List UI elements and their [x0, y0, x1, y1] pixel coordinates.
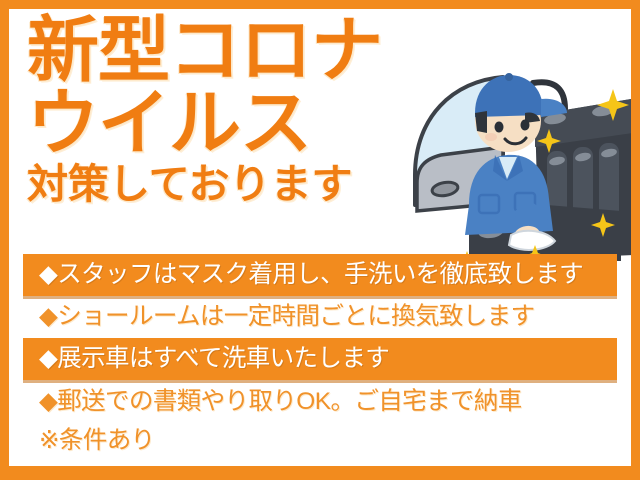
countermeasure-list: ◆スタッフはマスク着用し、手洗いを徹底致します ◆ショールームは一定時間ごとに換…	[23, 254, 617, 464]
headline-line-1: 新型コロナ	[27, 17, 447, 86]
diamond-bullet-icon: ◆	[39, 388, 57, 415]
bullet-note: ※条件あり	[39, 421, 522, 461]
bullet-line: ◆スタッフはマスク着用し、手洗いを徹底致します	[39, 256, 583, 294]
bullet-label: 展示車はすべて洗車いたします	[57, 345, 389, 372]
headline-line-2: ウイルス	[27, 90, 447, 159]
diamond-bullet-icon: ◆	[39, 261, 57, 288]
diamond-bullet-icon: ◆	[39, 303, 57, 330]
bullet-line-group: ◆郵送での書類やり取りOK。ご自宅まで納車 ※条件あり	[39, 383, 522, 461]
headline-line-3: 対策しております	[27, 165, 447, 204]
bullet-line: ◆展示車はすべて洗車いたします	[39, 340, 389, 378]
bullet-line: ◆郵送での書類やり取りOK。ご自宅まで納車	[39, 383, 522, 421]
car-cleaning-staff-illustration	[407, 55, 631, 265]
list-item: ◆ショールームは一定時間ごとに換気致します	[23, 296, 617, 338]
bullet-label: スタッフはマスク着用し、手洗いを徹底致します	[57, 261, 583, 288]
list-item: ◆スタッフはマスク着用し、手洗いを徹底致します	[23, 254, 617, 296]
bullet-label: ショールームは一定時間ごとに換気致します	[57, 303, 534, 330]
covid-countermeasure-banner: 新型コロナ ウイルス 対策しております ◆スタッフはマスク着用し、手洗いを徹底致…	[0, 0, 640, 480]
bullet-label: 郵送での書類やり取りOK。ご自宅まで納車	[57, 388, 521, 415]
bullet-line: ◆ショールームは一定時間ごとに換気致します	[39, 298, 535, 336]
diamond-bullet-icon: ◆	[39, 345, 57, 372]
banner-inner-card: 新型コロナ ウイルス 対策しております ◆スタッフはマスク着用し、手洗いを徹底致…	[9, 9, 631, 466]
list-item: ◆郵送での書類やり取りOK。ご自宅まで納車 ※条件あり	[23, 380, 617, 464]
list-item: ◆展示車はすべて洗車いたします	[23, 338, 617, 380]
headline-block: 新型コロナ ウイルス 対策しております	[27, 17, 447, 205]
